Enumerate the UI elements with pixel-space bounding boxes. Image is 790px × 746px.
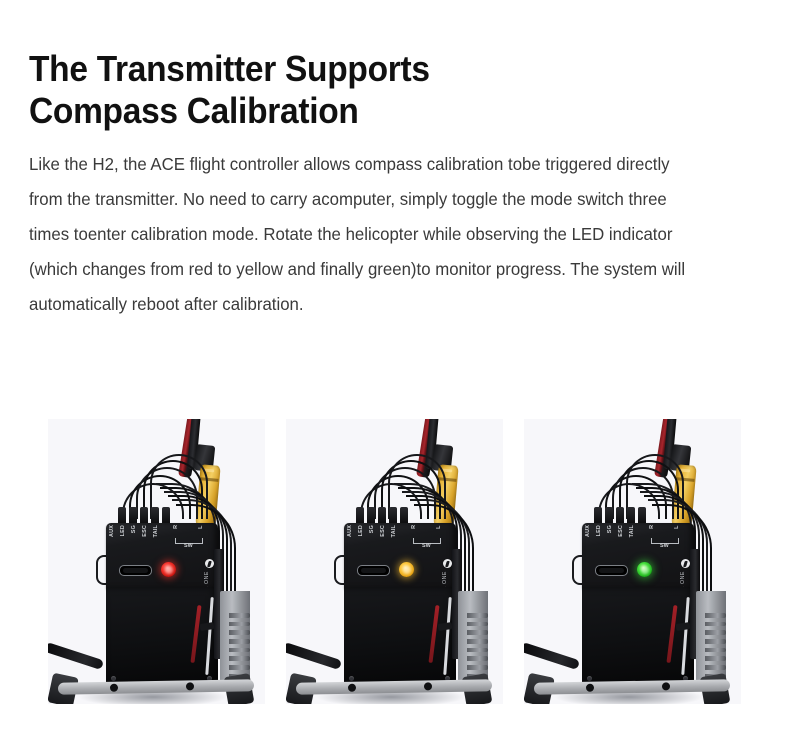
- port-label-esc: ESC: [381, 525, 386, 537]
- page-title: The Transmitter Supports Compass Calibra…: [29, 48, 680, 132]
- port-label-led: LED: [597, 525, 602, 536]
- port-label-strip: AUX LED SG ESC TAIL: [348, 525, 397, 555]
- switch-label-l: L: [437, 525, 442, 529]
- switch-port-group: R L SW: [174, 525, 204, 551]
- product-photo-scene: AUX LED SG ESC TAIL R L SW ACE ONE: [286, 419, 503, 704]
- port-label-esc: ESC: [619, 525, 624, 537]
- port-label-sg: SG: [608, 525, 613, 533]
- switch-label-r: R: [650, 525, 655, 529]
- switch-label-r: R: [412, 525, 417, 529]
- port-label-aux: AUX: [586, 525, 591, 537]
- port-label-tail: TAIL: [630, 525, 635, 537]
- brand-logo-icon: [443, 559, 452, 568]
- status-led-indicator: [399, 562, 414, 577]
- airframe-boom: [286, 642, 342, 670]
- switch-label-l: L: [199, 525, 204, 529]
- switch-label-l: L: [675, 525, 680, 529]
- switch-port-group: R L SW: [650, 525, 680, 551]
- text-block: The Transmitter Supports Compass Calibra…: [29, 48, 729, 322]
- switch-group-label: SW: [184, 544, 193, 549]
- photo-card-led-green[interactable]: AUX LED SG ESC TAIL R L SW ACE ONE: [524, 419, 741, 704]
- port-label-aux: AUX: [110, 525, 115, 537]
- flight-controller-body: [344, 587, 456, 689]
- photo-card-led-red[interactable]: AUX LED SG ESC TAIL R L SW ACE ONE: [48, 419, 265, 704]
- status-led-indicator: [161, 562, 176, 577]
- port-label-tail: TAIL: [392, 525, 397, 537]
- port-label-sg: SG: [132, 525, 137, 533]
- switch-group-label: SW: [422, 544, 431, 549]
- brand-logo-icon: [681, 559, 690, 568]
- status-led-indicator: [637, 562, 652, 577]
- photo-card-led-yellow[interactable]: AUX LED SG ESC TAIL R L SW ACE ONE: [286, 419, 503, 704]
- port-label-sg: SG: [370, 525, 375, 533]
- airframe-boom: [524, 642, 580, 670]
- port-label-strip: AUX LED SG ESC TAIL: [110, 525, 159, 555]
- product-photo-scene: AUX LED SG ESC TAIL R L SW ACE ONE: [48, 419, 265, 704]
- usb-c-port-icon: [119, 565, 152, 576]
- usb-c-port-icon: [595, 565, 628, 576]
- body-paragraph: Like the H2, the ACE flight controller a…: [29, 132, 701, 322]
- port-label-aux: AUX: [348, 525, 353, 537]
- flight-controller-body: [582, 587, 694, 689]
- product-feature-page: The Transmitter Supports Compass Calibra…: [0, 0, 790, 746]
- port-label-tail: TAIL: [154, 525, 159, 537]
- product-photo-scene: AUX LED SG ESC TAIL R L SW ACE ONE: [524, 419, 741, 704]
- image-gallery: AUX LED SG ESC TAIL R L SW ACE ONE: [48, 419, 743, 704]
- port-label-strip: AUX LED SG ESC TAIL: [586, 525, 635, 555]
- switch-label-r: R: [174, 525, 179, 529]
- switch-port-group: R L SW: [412, 525, 442, 551]
- port-label-esc: ESC: [143, 525, 148, 537]
- usb-c-port-icon: [357, 565, 390, 576]
- airframe-boom: [48, 642, 104, 670]
- port-label-led: LED: [359, 525, 364, 536]
- switch-group-label: SW: [660, 544, 669, 549]
- port-label-led: LED: [121, 525, 126, 536]
- flight-controller-body: [106, 587, 218, 689]
- brand-logo-icon: [205, 559, 214, 568]
